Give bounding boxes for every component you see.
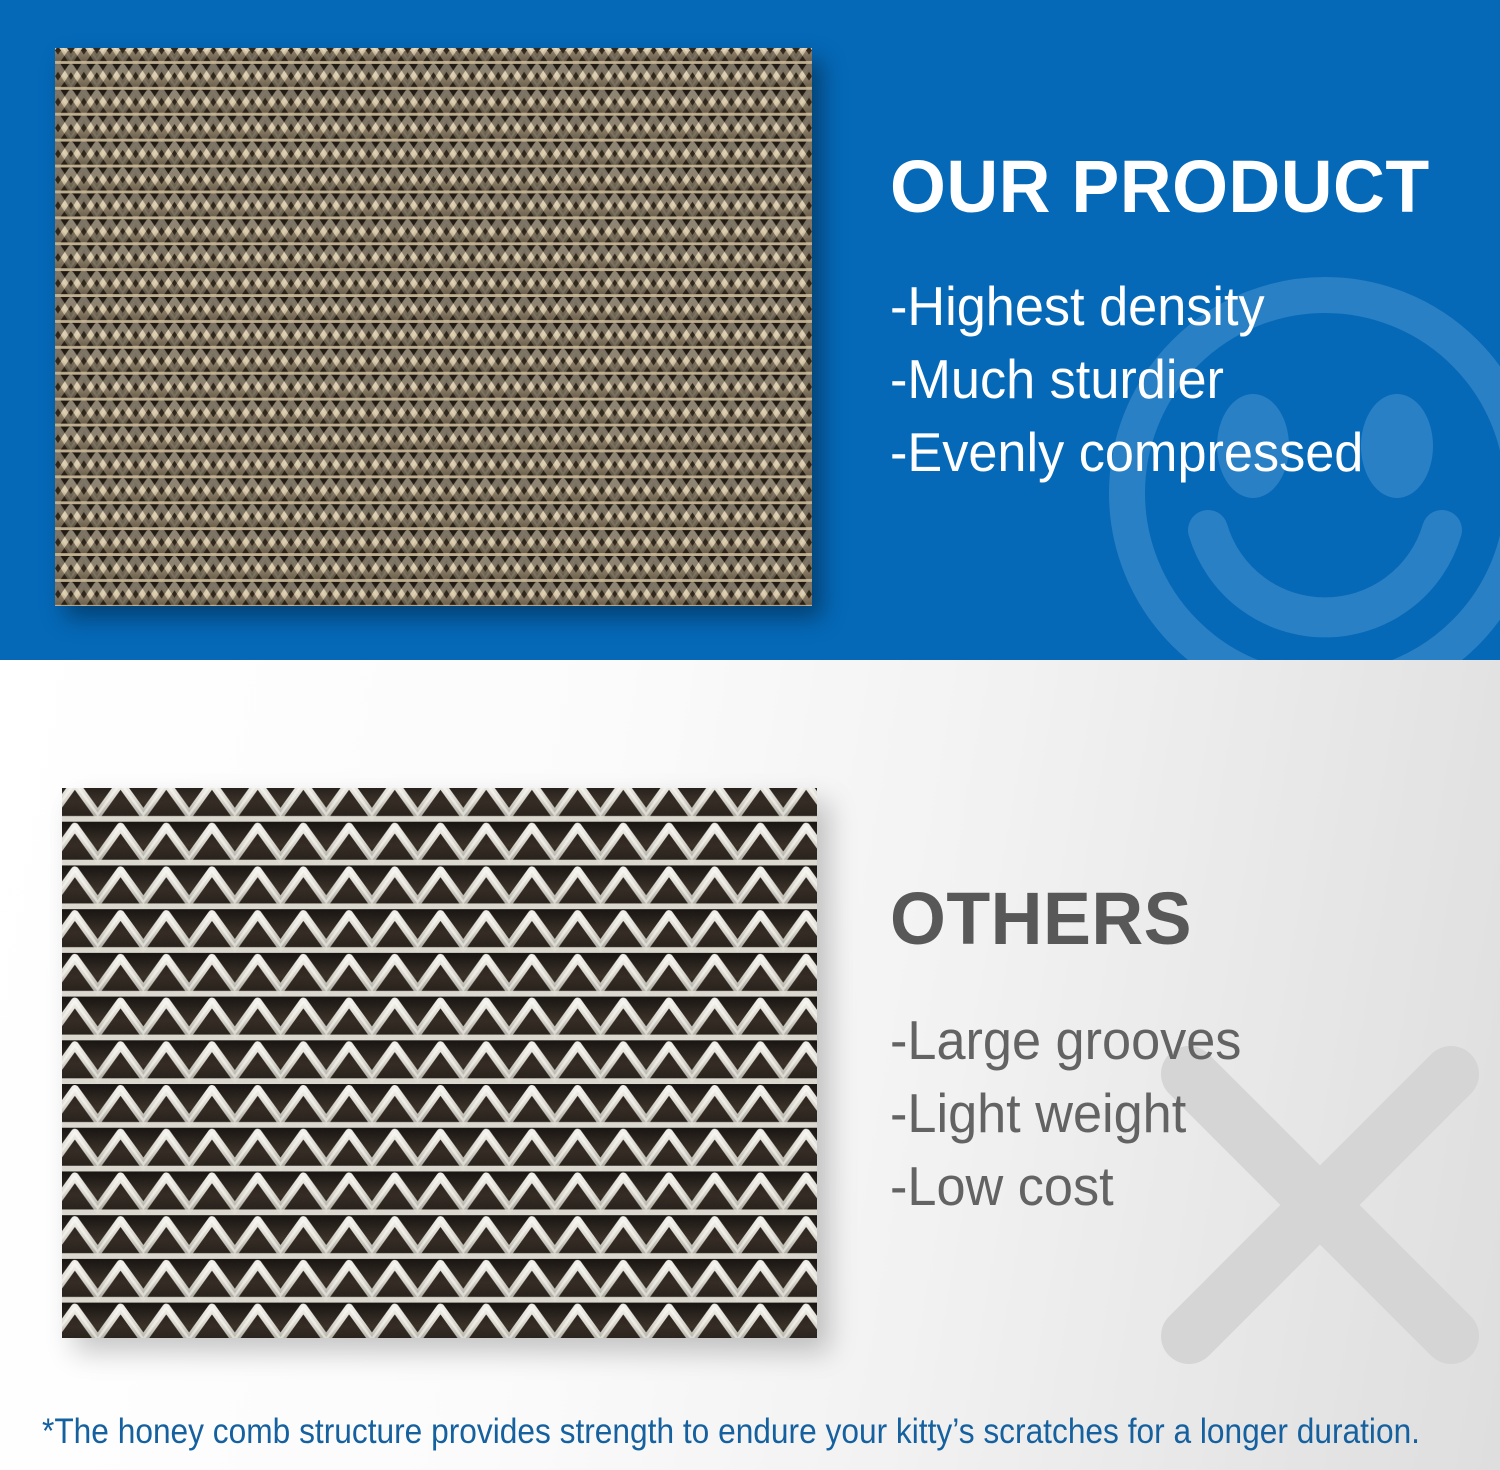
our-product-panel: OUR PRODUCT -Highest density -Much sturd… bbox=[0, 0, 1500, 660]
others-bullet-1: -Large grooves bbox=[890, 1004, 1460, 1077]
footer-disclaimer: *The honey comb structure provides stren… bbox=[42, 1412, 1336, 1452]
our-product-cardboard-photo bbox=[55, 48, 812, 606]
coarse-corrugation-texture bbox=[62, 788, 817, 1338]
others-text-block: OTHERS -Large grooves -Light weight -Low… bbox=[890, 882, 1490, 1223]
our-product-bullet-list: -Highest density -Much sturdier -Evenly … bbox=[890, 270, 1490, 489]
our-product-heading: OUR PRODUCT bbox=[890, 150, 1472, 224]
dense-corrugation-texture bbox=[55, 48, 812, 606]
our-product-bullet-3: -Evenly compressed bbox=[890, 416, 1460, 489]
comparison-infographic: OUR PRODUCT -Highest density -Much sturd… bbox=[0, 0, 1500, 1470]
others-bullet-3: -Low cost bbox=[890, 1150, 1460, 1223]
our-product-bullet-2: -Much sturdier bbox=[890, 343, 1460, 416]
others-heading: OTHERS bbox=[890, 882, 1472, 956]
others-bullet-2: -Light weight bbox=[890, 1077, 1460, 1150]
our-product-text-block: OUR PRODUCT -Highest density -Much sturd… bbox=[890, 150, 1490, 489]
our-product-bullet-1: -Highest density bbox=[890, 270, 1460, 343]
others-bullet-list: -Large grooves -Light weight -Low cost bbox=[890, 1004, 1490, 1223]
others-cardboard-photo bbox=[62, 788, 817, 1338]
